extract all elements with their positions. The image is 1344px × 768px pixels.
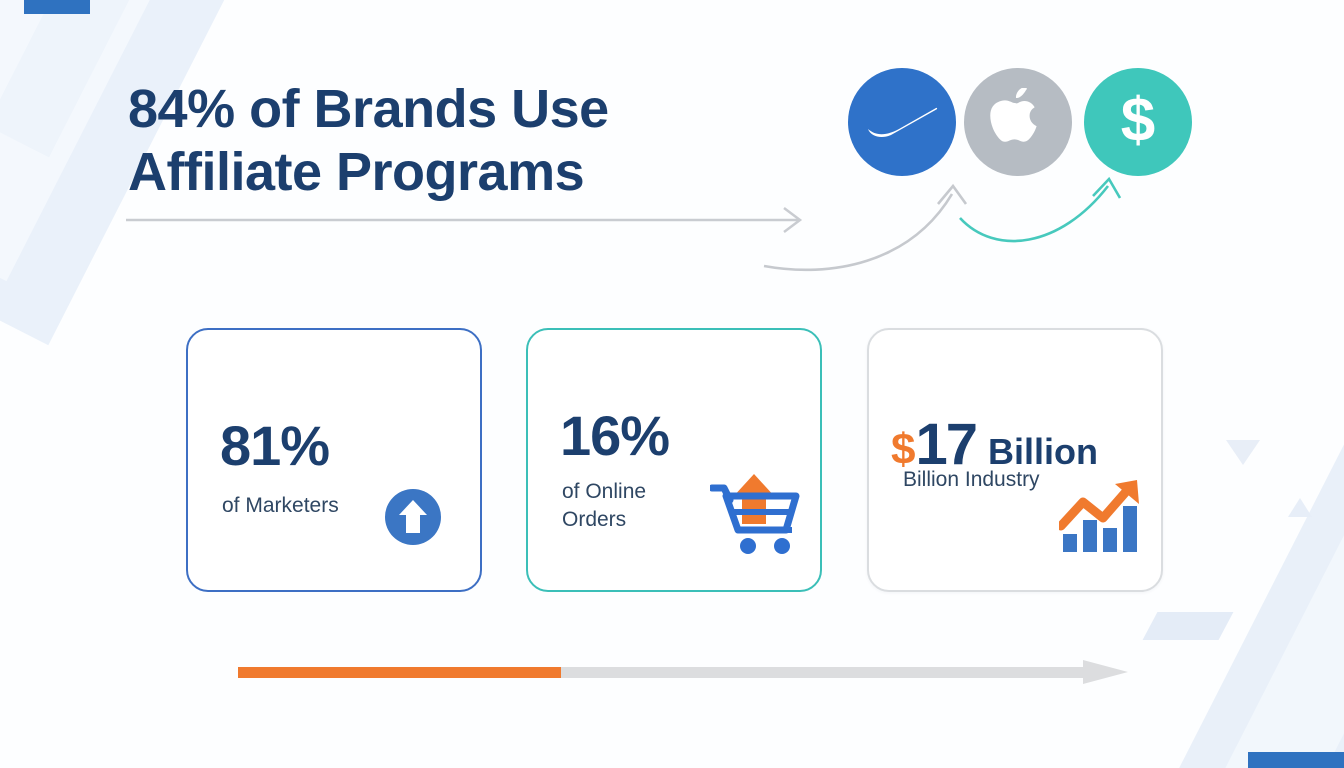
stat-label: of Online Orders	[562, 478, 702, 533]
apple-logo-icon	[989, 88, 1047, 156]
corner-bar-bottom-right	[1248, 752, 1344, 768]
growth-chart-icon	[1059, 478, 1145, 554]
triangle-down-icon	[1226, 440, 1260, 465]
card-body: 81% of Marketers	[188, 330, 480, 590]
corner-bar-top-left	[24, 0, 90, 14]
headline-line-1: 84% of Brands Use	[128, 78, 748, 141]
parallelogram-accent	[1143, 612, 1234, 640]
shopping-cart-icon-wrap	[710, 470, 802, 561]
infographic-slide: 84% of Brands Use Affiliate Programs $	[0, 0, 1344, 768]
stat-label: of Marketers	[222, 492, 339, 520]
stat-unit: Billion	[988, 434, 1098, 470]
brand-connector-arrows	[760, 160, 1180, 278]
progress-bar[interactable]	[238, 660, 1128, 684]
progress-bar-fill	[238, 667, 561, 678]
growth-chart-icon-wrap	[1059, 478, 1145, 559]
stat-value: 81%	[220, 418, 329, 474]
stat-card-online-orders[interactable]: 16% of Online Orders	[526, 328, 822, 592]
diagonal-shape-bottom-right-2	[1171, 491, 1344, 768]
card-body: 16% of Online Orders	[528, 330, 820, 590]
headline-line-2: Affiliate Programs	[128, 141, 748, 204]
arrow-up-circle-icon	[384, 488, 442, 546]
stat-label: Billion Industry	[903, 466, 1053, 494]
stat-card-marketers[interactable]: 81% of Marketers	[186, 328, 482, 592]
nike-swoosh-icon	[866, 107, 938, 137]
triangle-up-icon	[1288, 498, 1312, 517]
stat-value: 16%	[560, 408, 669, 464]
arrow-up-circle-icon-wrap	[384, 488, 442, 551]
progress-bar-graphic	[238, 660, 1128, 684]
dollar-sign-icon: $	[1121, 90, 1155, 152]
page-title: 84% of Brands Use Affiliate Programs	[128, 78, 748, 203]
shopping-cart-up-arrow-icon	[710, 470, 802, 556]
headline-arrow-rule	[120, 200, 820, 240]
stat-card-industry-size[interactable]: $ 17 Billion Billion Industry	[867, 328, 1163, 592]
card-body: $ 17 Billion Billion Industry	[869, 330, 1161, 590]
stat-card-group: 81% of Marketers 16% of Online Orders	[186, 328, 1158, 592]
